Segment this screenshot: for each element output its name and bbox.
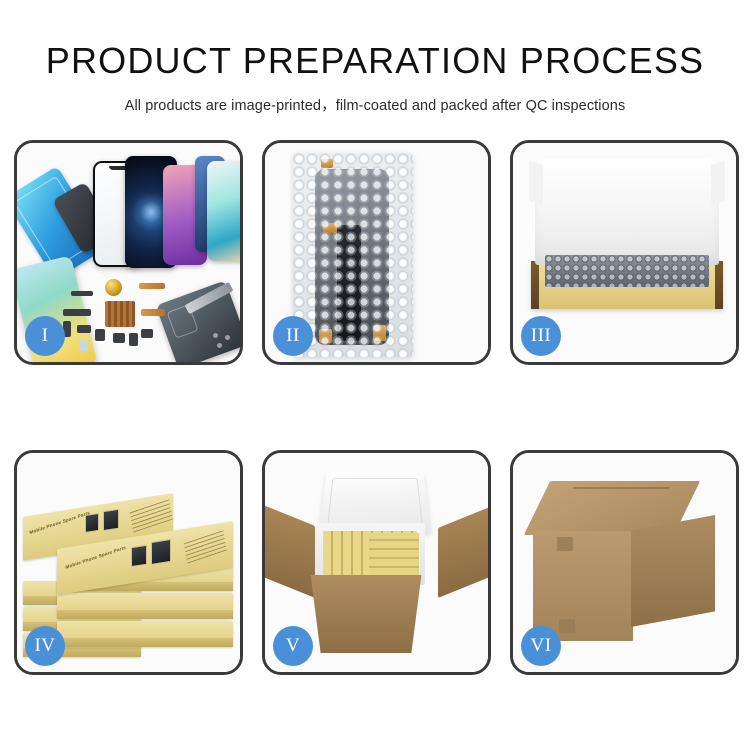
- chip-part: [113, 333, 125, 343]
- carton-seam: [573, 487, 670, 489]
- header: PRODUCT PREPARATION PROCESS All products…: [0, 0, 750, 115]
- screw-part: [217, 343, 222, 348]
- box-print-label: Mobile Phone Spare Parts: [65, 545, 126, 570]
- stacked-box: [57, 593, 233, 619]
- flex-cable-part: [139, 283, 165, 289]
- foam-lid-sheet: [535, 159, 719, 265]
- step-badge-6: VI: [521, 626, 561, 666]
- carton-tape-tab: [559, 619, 575, 633]
- product-preparation-infographic: PRODUCT PREPARATION PROCESS All products…: [0, 0, 750, 750]
- box-window-image: [103, 509, 119, 532]
- packed-yellow-boxes: [369, 533, 419, 575]
- process-step-panel-1: I: [14, 140, 243, 365]
- step-badge-5: V: [273, 626, 313, 666]
- process-step-panel-6: VI: [510, 450, 739, 675]
- box-print-label: Mobile Phone Spare Parts: [29, 510, 90, 535]
- process-step-panel-4: Mobile Phone Spare Parts Mobile Phone Sp…: [14, 450, 243, 675]
- page-title: PRODUCT PREPARATION PROCESS: [0, 40, 750, 82]
- process-step-panel-5: V: [262, 450, 491, 675]
- process-step-panel-3: III: [510, 140, 739, 365]
- chip-part: [129, 333, 138, 346]
- box-spec-text-block: [183, 527, 227, 563]
- stacked-box: [57, 621, 233, 647]
- chip-part: [63, 309, 91, 316]
- chip-part: [95, 329, 105, 341]
- carton-flap-right: [438, 506, 488, 598]
- carton-flap-left: [265, 504, 315, 598]
- step-badge-1: I: [25, 316, 65, 356]
- screw-part: [225, 335, 230, 340]
- process-step-grid: I II I: [14, 140, 736, 675]
- carton-front-face: [533, 531, 633, 641]
- carton-tape-tab: [557, 537, 573, 551]
- process-step-panel-2: II: [262, 140, 491, 365]
- chip-part: [77, 325, 91, 333]
- flex-cable-part: [141, 309, 165, 316]
- box-window-image: [151, 539, 171, 565]
- copper-shield-part: [105, 301, 135, 327]
- box-spec-text-block: [129, 497, 173, 533]
- carton-front-wall: [303, 575, 429, 653]
- page-subtitle: All products are image-printed，film-coat…: [0, 94, 750, 115]
- teal-gradient-phone: [207, 161, 240, 261]
- chip-part: [141, 329, 153, 338]
- screw-part: [213, 333, 218, 338]
- box-window-image: [85, 513, 99, 533]
- chip-part: [71, 291, 93, 296]
- step-badge-2: II: [273, 316, 313, 356]
- step-badge-3: III: [521, 316, 561, 356]
- box-window-image: [131, 545, 147, 568]
- speaker-module-icon: [105, 279, 122, 296]
- sim-tray-part: [79, 339, 88, 351]
- carton-side-face: [631, 515, 715, 627]
- step-badge-4: IV: [25, 626, 65, 666]
- gray-bubble-wrapped-stack: [545, 255, 709, 287]
